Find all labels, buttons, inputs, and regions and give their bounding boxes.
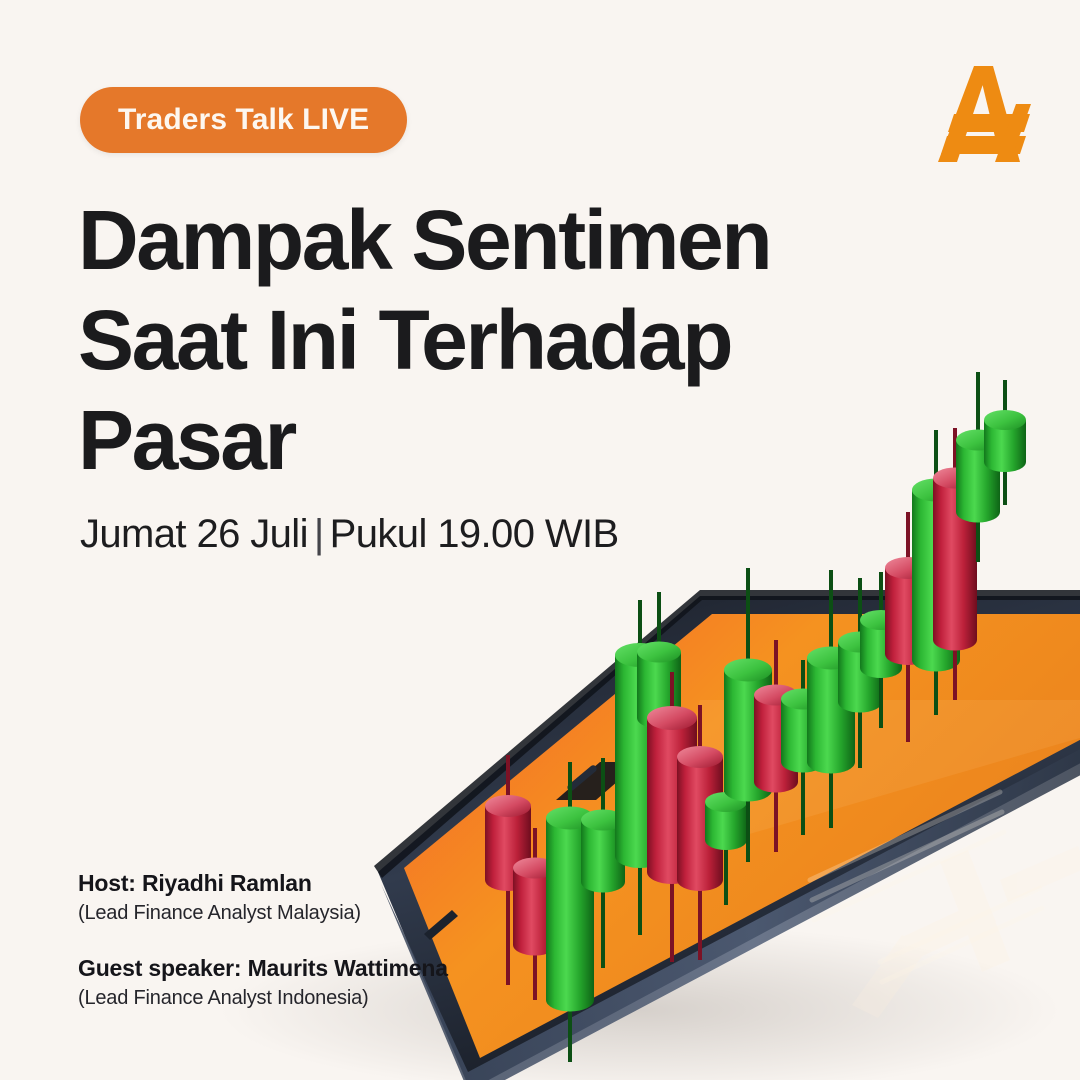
schedule-separator: | [308,512,330,556]
page-title: Dampak Sentimen Saat Ini Terhadap Pasar [78,190,818,490]
ascendex-a-logo-icon [930,58,1040,170]
live-badge-label: Traders Talk LIVE [118,103,369,137]
title-line-2: Saat Ini Terhadap [78,290,818,390]
credit-guest: Guest speaker: Maurits Wattimena (Lead F… [78,953,448,1012]
title-line-1: Dampak Sentimen [78,190,818,290]
schedule-date: Jumat 26 Juli [80,512,308,556]
credit-host: Host: Riyadhi Ramlan (Lead Finance Analy… [78,868,448,927]
credit-host-name: Host: Riyadhi Ramlan [78,868,448,899]
brand-logo [930,58,1040,170]
title-line-3: Pasar [78,390,818,490]
credit-guest-name: Guest speaker: Maurits Wattimena [78,953,448,984]
schedule-time: Pukul 19.00 WIB [330,512,619,556]
poster-canvas: Traders Talk LIVE Dampak Sentimen Saat I… [0,0,1080,1080]
live-badge[interactable]: Traders Talk LIVE [80,87,407,153]
credits-block: Host: Riyadhi Ramlan (Lead Finance Analy… [78,868,448,1038]
schedule-line: Jumat 26 Juli|Pukul 19.00 WIB [80,512,619,557]
credit-guest-role: (Lead Finance Analyst Indonesia) [78,984,448,1012]
credit-host-role: (Lead Finance Analyst Malaysia) [78,899,448,927]
